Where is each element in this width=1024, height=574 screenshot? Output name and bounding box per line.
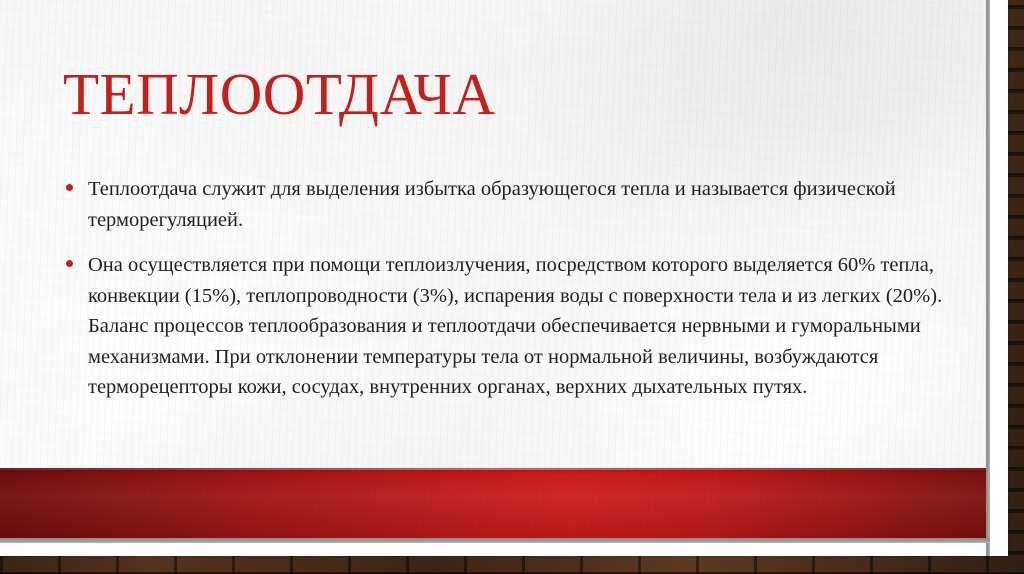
slide-border-right bbox=[986, 0, 990, 556]
accent-bar-highlight bbox=[0, 468, 986, 470]
slide-border-bottom bbox=[0, 538, 990, 543]
bullet-dot-icon bbox=[66, 184, 73, 191]
slide-body-content: Теплоотдача служит для выделения избытка… bbox=[62, 174, 950, 403]
bullet-item-text: Теплоотдача служит для выделения избытка… bbox=[88, 174, 950, 235]
bullet-list-item: Она осуществляется при помощи теплоизлуч… bbox=[62, 250, 950, 403]
slide-frame: ТЕПЛООТДАЧА Теплоотдача служит для выдел… bbox=[0, 0, 1008, 556]
bullet-dot-icon bbox=[66, 260, 73, 267]
presentation-slide: ТЕПЛООТДАЧА Теплоотдача служит для выдел… bbox=[0, 0, 986, 538]
bullet-item-text: Она осуществляется при помощи теплоизлуч… bbox=[88, 250, 950, 403]
brick-wall-background: ТЕПЛООТДАЧА Теплоотдача служит для выдел… bbox=[0, 0, 1024, 574]
bullet-list-item: Теплоотдача служит для выделения избытка… bbox=[62, 174, 950, 235]
accent-bar bbox=[0, 468, 986, 538]
slide-title: ТЕПЛООТДАЧА bbox=[63, 63, 943, 125]
